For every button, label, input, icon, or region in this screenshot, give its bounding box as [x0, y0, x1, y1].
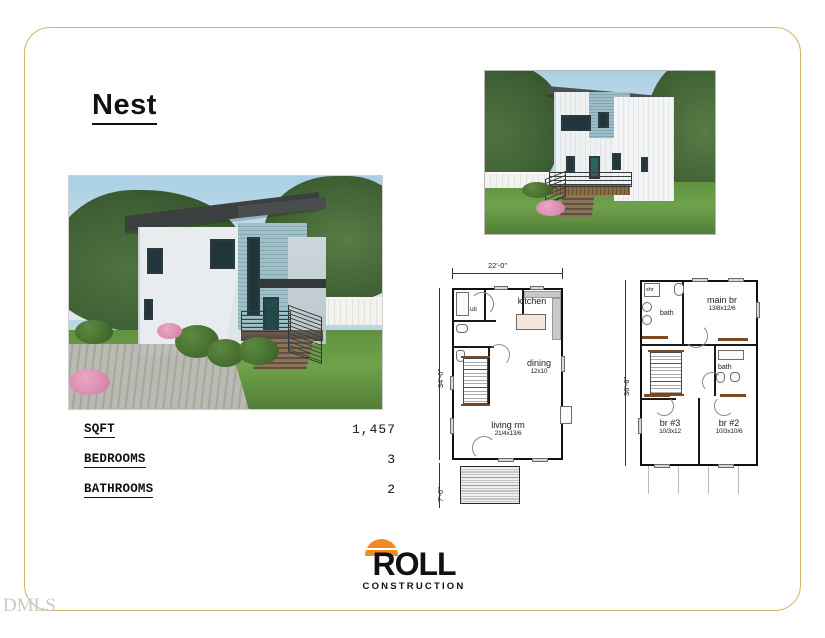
- spec-value-sqft: 1,457: [352, 422, 396, 437]
- door-swing-br3: [654, 396, 674, 416]
- logo-subtitle: CONSTRUCTION: [362, 581, 466, 593]
- door-swing-bath2: [702, 372, 722, 392]
- window-mark-bottom-2: [718, 464, 734, 468]
- company-logo: ROLL CONSTRUCTION: [362, 540, 466, 593]
- toilet-fixture-1: [674, 283, 684, 296]
- window-upper-right: [598, 112, 610, 128]
- room-name: kitchen: [510, 296, 554, 306]
- kitchen-island: [516, 314, 546, 330]
- second-floor-plan: 36'-6" shr bath main br 13/8x12/6 bath: [618, 268, 776, 496]
- roof-line-4: [738, 466, 739, 494]
- stair-handrail: [461, 356, 490, 358]
- window-mark-left-1: [450, 376, 454, 390]
- door-swing-entry: [472, 436, 496, 460]
- room-name: dining: [514, 358, 564, 368]
- dim-porch-label: 7'-0": [436, 487, 445, 502]
- tub-fixture: [456, 292, 469, 316]
- window-mark-bottom-1: [498, 458, 514, 462]
- window-mark-right-1: [561, 356, 565, 372]
- staircase: [463, 358, 488, 404]
- deck-railing: [241, 311, 291, 332]
- sink-fixture-2: [730, 372, 740, 382]
- dim-depth-label: 36'-6": [622, 377, 631, 396]
- shrub-d: [75, 320, 113, 343]
- door-swing-br2: [714, 396, 734, 416]
- window-mark-bottom-1: [654, 464, 670, 468]
- window-mark-top-2: [728, 278, 744, 282]
- rear-exterior-rendering: [484, 70, 716, 235]
- room-name: br #3: [644, 418, 696, 428]
- porch-roof: [257, 279, 326, 288]
- bay-window: [560, 406, 572, 424]
- window-mark-left-2: [450, 418, 454, 434]
- window-mark-left-1: [638, 418, 642, 434]
- specs-table: SQFT 1,457 BEDROOMS 3 BATHROOMS 2: [84, 418, 396, 508]
- window-tall-right: [247, 237, 260, 316]
- sink-fixture: [456, 324, 468, 333]
- room-label-bath-1: bath: [660, 310, 674, 317]
- closet-shelf-1: [642, 336, 668, 339]
- spec-label-bathrooms: BATHROOMS: [84, 482, 153, 498]
- roof-line-2: [678, 466, 679, 494]
- room-label-kitchen: kitchen: [510, 296, 554, 306]
- room-label-br-2: br #2 10/3x10/6: [702, 418, 756, 436]
- shrub-a: [522, 182, 552, 198]
- stair-landing-rail: [461, 404, 490, 406]
- room-label-shr: shr: [646, 287, 654, 293]
- window-side: [641, 157, 648, 172]
- window-mark-bottom-2: [532, 458, 548, 462]
- vanity-sink-2: [642, 315, 652, 325]
- marketing-sheet: Nest: [0, 0, 825, 638]
- first-floor-plan: 22'-0" 34'-0" 7'-0" uti kitchen di: [432, 258, 584, 520]
- wall-center-v: [698, 398, 700, 464]
- roof-line-3: [708, 466, 709, 494]
- dim-depth-label: 34'-0": [436, 369, 445, 388]
- flowering-plants-left: [69, 369, 110, 395]
- front-porch: [460, 466, 520, 504]
- spec-label-sqft: SQFT: [84, 422, 115, 438]
- front-exterior-rendering: [68, 175, 383, 410]
- room-label-bath-2: bath: [718, 364, 732, 371]
- flowering-plants-bed: [157, 323, 182, 339]
- window-mark-top-1: [494, 286, 508, 290]
- dim-line-width: [452, 273, 563, 274]
- roof-line-1: [648, 466, 649, 494]
- wall-hall-h: [642, 344, 684, 346]
- door-swing-stair: [488, 344, 510, 366]
- door-swing-bath: [470, 292, 494, 316]
- room-size: 13/8x12/6: [690, 305, 754, 313]
- room-name: br #2: [702, 418, 756, 428]
- room-label-dining: dining 12x10: [514, 358, 564, 376]
- dim-line-depth: [625, 280, 626, 466]
- logo-wordmark: ROLL: [362, 547, 466, 581]
- watermark: DMLS: [3, 595, 56, 617]
- vanity-sink-1: [642, 302, 652, 312]
- window-upper-band: [561, 115, 591, 131]
- room-name: living rm: [476, 420, 540, 430]
- room-size: 10/3x12: [644, 428, 696, 436]
- window-mark-right-1: [756, 302, 760, 318]
- window-mark-top-1: [692, 278, 708, 282]
- table-row: BATHROOMS 2: [84, 478, 396, 508]
- stair-rail-top: [648, 350, 684, 352]
- room-size: 10/3x10/6: [702, 428, 756, 436]
- dim-width-label: 22'-0": [488, 261, 507, 270]
- door-swing-main-br: [684, 324, 708, 348]
- room-label-br-3: br #3 10/3x12: [644, 418, 696, 436]
- room-label-main-br: main br 13/8x12/6: [690, 295, 754, 313]
- dim-tick-left: [452, 268, 453, 279]
- window-lower-left: [566, 156, 575, 172]
- closet-shelf-2: [718, 338, 748, 341]
- room-size: 12x10: [514, 368, 564, 376]
- window-mark-top-2: [530, 286, 544, 290]
- window-lower-left: [144, 299, 153, 320]
- table-row: BEDROOMS 3: [84, 448, 396, 478]
- window-upper-mid: [210, 239, 235, 269]
- dim-tick-right: [562, 268, 563, 279]
- spec-label-bedrooms: BEDROOMS: [84, 452, 146, 468]
- shrub-c: [238, 337, 279, 365]
- window-lower-mid: [612, 153, 621, 171]
- interior-wall-h1: [454, 320, 496, 322]
- spec-value-bathrooms: 2: [387, 482, 396, 497]
- staircase: [650, 352, 682, 394]
- room-name: main br: [690, 295, 754, 305]
- tub-fixture-2: [718, 350, 744, 360]
- window-upper-left: [147, 248, 163, 274]
- page-title: Nest: [92, 90, 157, 125]
- table-row: SQFT 1,457: [84, 418, 396, 448]
- spec-value-bedrooms: 3: [387, 452, 396, 467]
